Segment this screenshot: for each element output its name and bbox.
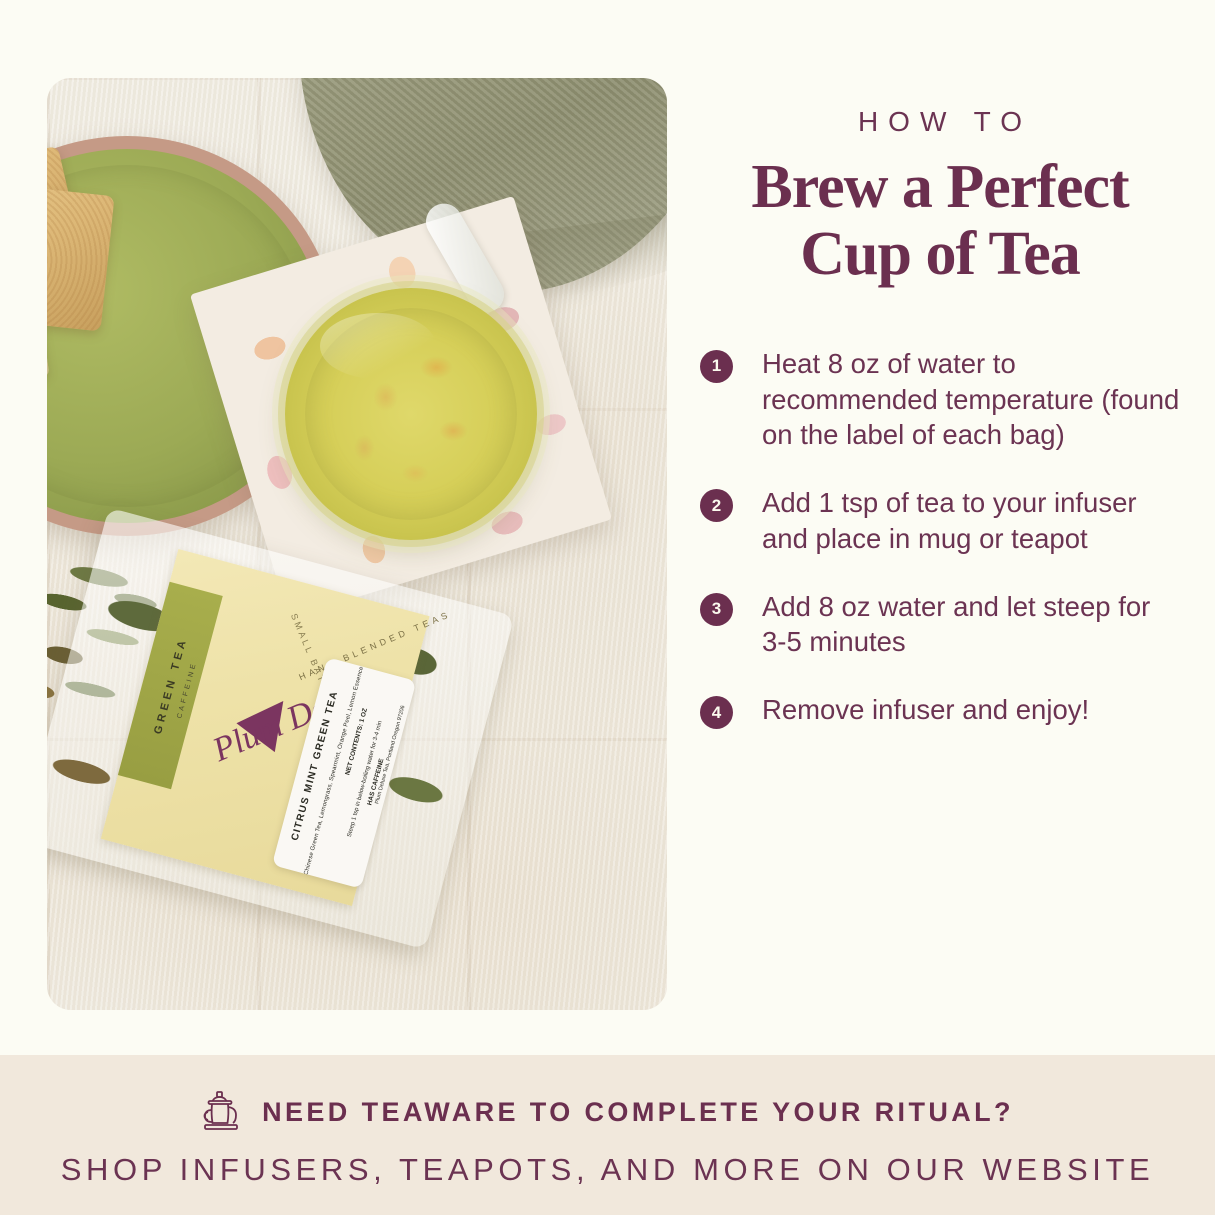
list-item: 4 Remove infuser and enjoy! <box>700 692 1180 729</box>
infographic-page: GREEN TEA CAFFEINE SMALL BATCH HAND BLEN… <box>0 0 1215 1215</box>
kicker-text: HOW TO <box>700 106 1180 138</box>
list-item: 2 Add 1 tsp of tea to your infuser and p… <box>700 485 1180 557</box>
step-text: Add 1 tsp of tea to your infuser and pla… <box>762 485 1180 557</box>
page-title: Brew a Perfect Cup of Tea <box>700 154 1180 288</box>
step-number-badge: 2 <box>700 489 733 522</box>
step-number-badge: 3 <box>700 593 733 626</box>
list-item: 1 Heat 8 oz of water to recommended temp… <box>700 346 1180 453</box>
teapot-icon <box>201 1090 247 1134</box>
step-text: Remove infuser and enjoy! <box>762 692 1089 728</box>
footer-headline: NEED TEAWARE TO COMPLETE YOUR RITUAL? <box>262 1097 1014 1128</box>
headline-line-2: Cup of Tea <box>700 221 1180 288</box>
headline-line-1: Brew a Perfect <box>700 154 1180 221</box>
cracker <box>47 178 115 331</box>
steps-list: 1 Heat 8 oz of water to recommended temp… <box>700 346 1180 729</box>
glass-cup-of-tea <box>285 288 537 540</box>
hero-photo: GREEN TEA CAFFEINE SMALL BATCH HAND BLEN… <box>47 78 667 1010</box>
step-number-badge: 1 <box>700 350 733 383</box>
step-text: Add 8 oz water and let steep for 3-5 min… <box>762 589 1180 661</box>
step-text: Heat 8 oz of water to recommended temper… <box>762 346 1180 453</box>
footer-banner: NEED TEAWARE TO COMPLETE YOUR RITUAL? SH… <box>0 1055 1215 1215</box>
instructions-panel: HOW TO Brew a Perfect Cup of Tea 1 Heat … <box>700 0 1180 1020</box>
step-number-badge: 4 <box>700 696 733 729</box>
pouch-green-tea-text: GREEN TEA <box>152 636 190 736</box>
footer-subline: SHOP INFUSERS, TEAPOTS, AND MORE ON OUR … <box>0 1152 1215 1188</box>
list-item: 3 Add 8 oz water and let steep for 3-5 m… <box>700 589 1180 661</box>
footer-headline-row: NEED TEAWARE TO COMPLETE YOUR RITUAL? <box>0 1090 1215 1134</box>
